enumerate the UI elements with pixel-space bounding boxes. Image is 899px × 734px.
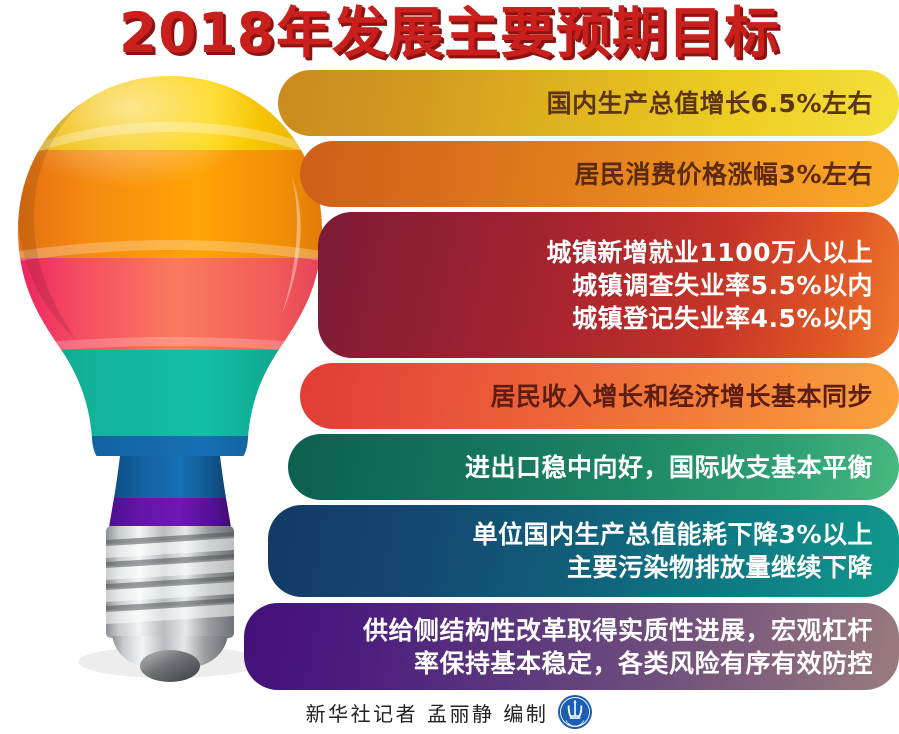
goal-line: 进出口稳中向好，国际收支基本平衡 [288, 451, 873, 484]
bulb-neck-purple [109, 498, 231, 528]
bulb-segment-blue-top [0, 436, 340, 456]
logo-tower-mast [575, 703, 577, 716]
logo-tower-base-2 [570, 717, 580, 719]
bulb-segment-teal [0, 350, 340, 436]
xinhua-logo-icon [557, 694, 593, 730]
goal-band-cpi: 居民消费价格涨幅3%左右 [300, 141, 899, 207]
goal-line: 国内生产总值增长6.5%左右 [278, 87, 873, 120]
goal-line: 城镇登记失业率4.5%以内 [318, 302, 873, 335]
bulb-neck-blue [114, 456, 226, 498]
base-contact-tip [140, 650, 200, 682]
credit-text: 新华社记者 孟丽静 编制 [306, 698, 549, 727]
goal-line: 率保持基本稳定，各类风险有序有效防控 [244, 647, 873, 680]
goal-band-trade: 进出口稳中向好，国际收支基本平衡 [288, 434, 899, 500]
goal-line: 城镇新增就业1100万人以上 [318, 236, 873, 269]
goal-line: 居民消费价格涨幅3%左右 [300, 158, 873, 191]
goal-line: 城镇调查失业率5.5%以内 [318, 269, 873, 302]
goal-band-energy: 单位国内生产总值能耗下降3%以上 主要污染物排放量继续下降 [268, 505, 899, 597]
goal-band-reform: 供给侧结构性改革取得实质性进展，宏观杠杆 率保持基本稳定，各类风险有序有效防控 [244, 603, 899, 690]
goal-line: 单位国内生产总值能耗下降3%以上 [268, 518, 873, 551]
logo-tower-base-1 [572, 715, 579, 717]
goal-band-income: 居民收入增长和经济增长基本同步 [300, 363, 899, 429]
goal-band-employment: 城镇新增就业1100万人以上 城镇调查失业率5.5%以内 城镇登记失业率4.5%… [318, 212, 899, 358]
bulb-gloss [30, 70, 270, 218]
goal-line: 居民收入增长和经济增长基本同步 [300, 380, 873, 413]
goal-line: 供给侧结构性改革取得实质性进展，宏观杠杆 [244, 614, 873, 647]
page-title: 2018年发展主要预期目标 [0, 2, 899, 64]
footer-credit: 新华社记者 孟丽静 编制 [0, 694, 899, 730]
goal-band-gdp: 国内生产总值增长6.5%左右 [278, 70, 899, 136]
infographic-poster: 2018年发展主要预期目标 [0, 0, 899, 734]
goal-line: 主要污染物排放量继续下降 [268, 551, 873, 584]
